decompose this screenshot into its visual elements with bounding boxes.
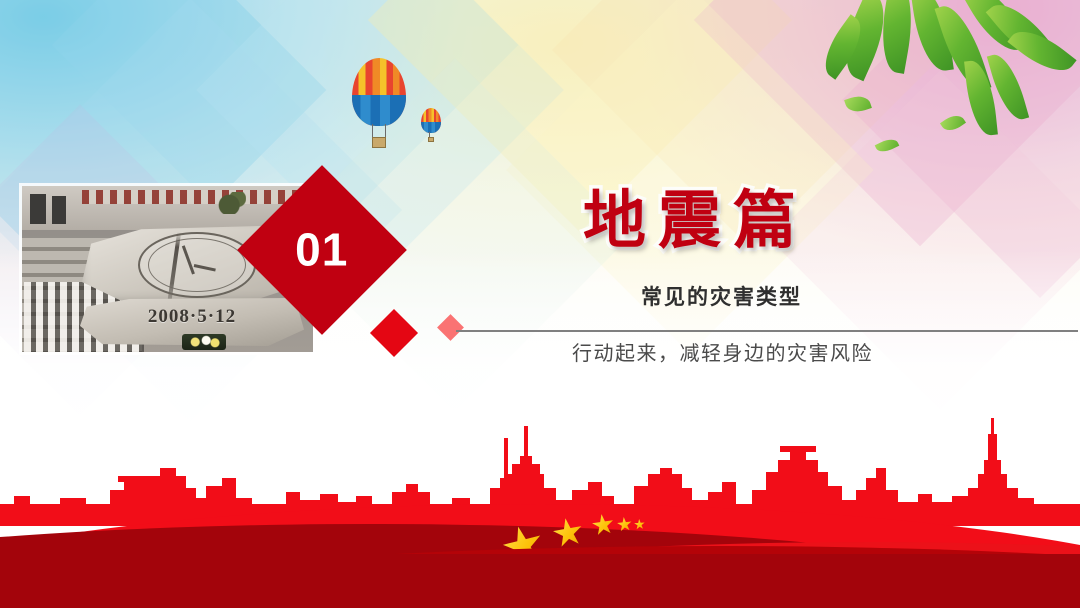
- photo-date-caption: 2008·5·12: [86, 306, 298, 328]
- hot-air-balloon-small-icon: [421, 108, 441, 133]
- presentation-slide: 2008·5·12 01 地震篇 常见的灾害类型 行动起来，减轻身边的灾害风险 …: [0, 0, 1080, 608]
- horizontal-rule: [456, 330, 1078, 332]
- green-leaves-icon: [820, 0, 1080, 210]
- section-number-label: 01: [295, 227, 348, 273]
- page-tagline: 行动起来，减轻身边的灾害风险: [572, 337, 873, 366]
- page-subtitle: 常见的灾害类型: [641, 281, 802, 311]
- hot-air-balloon-icon: [352, 58, 406, 126]
- bottom-decoration: [0, 408, 1080, 608]
- page-title: 地震篇: [583, 188, 808, 254]
- wave-band-base: [0, 554, 1080, 608]
